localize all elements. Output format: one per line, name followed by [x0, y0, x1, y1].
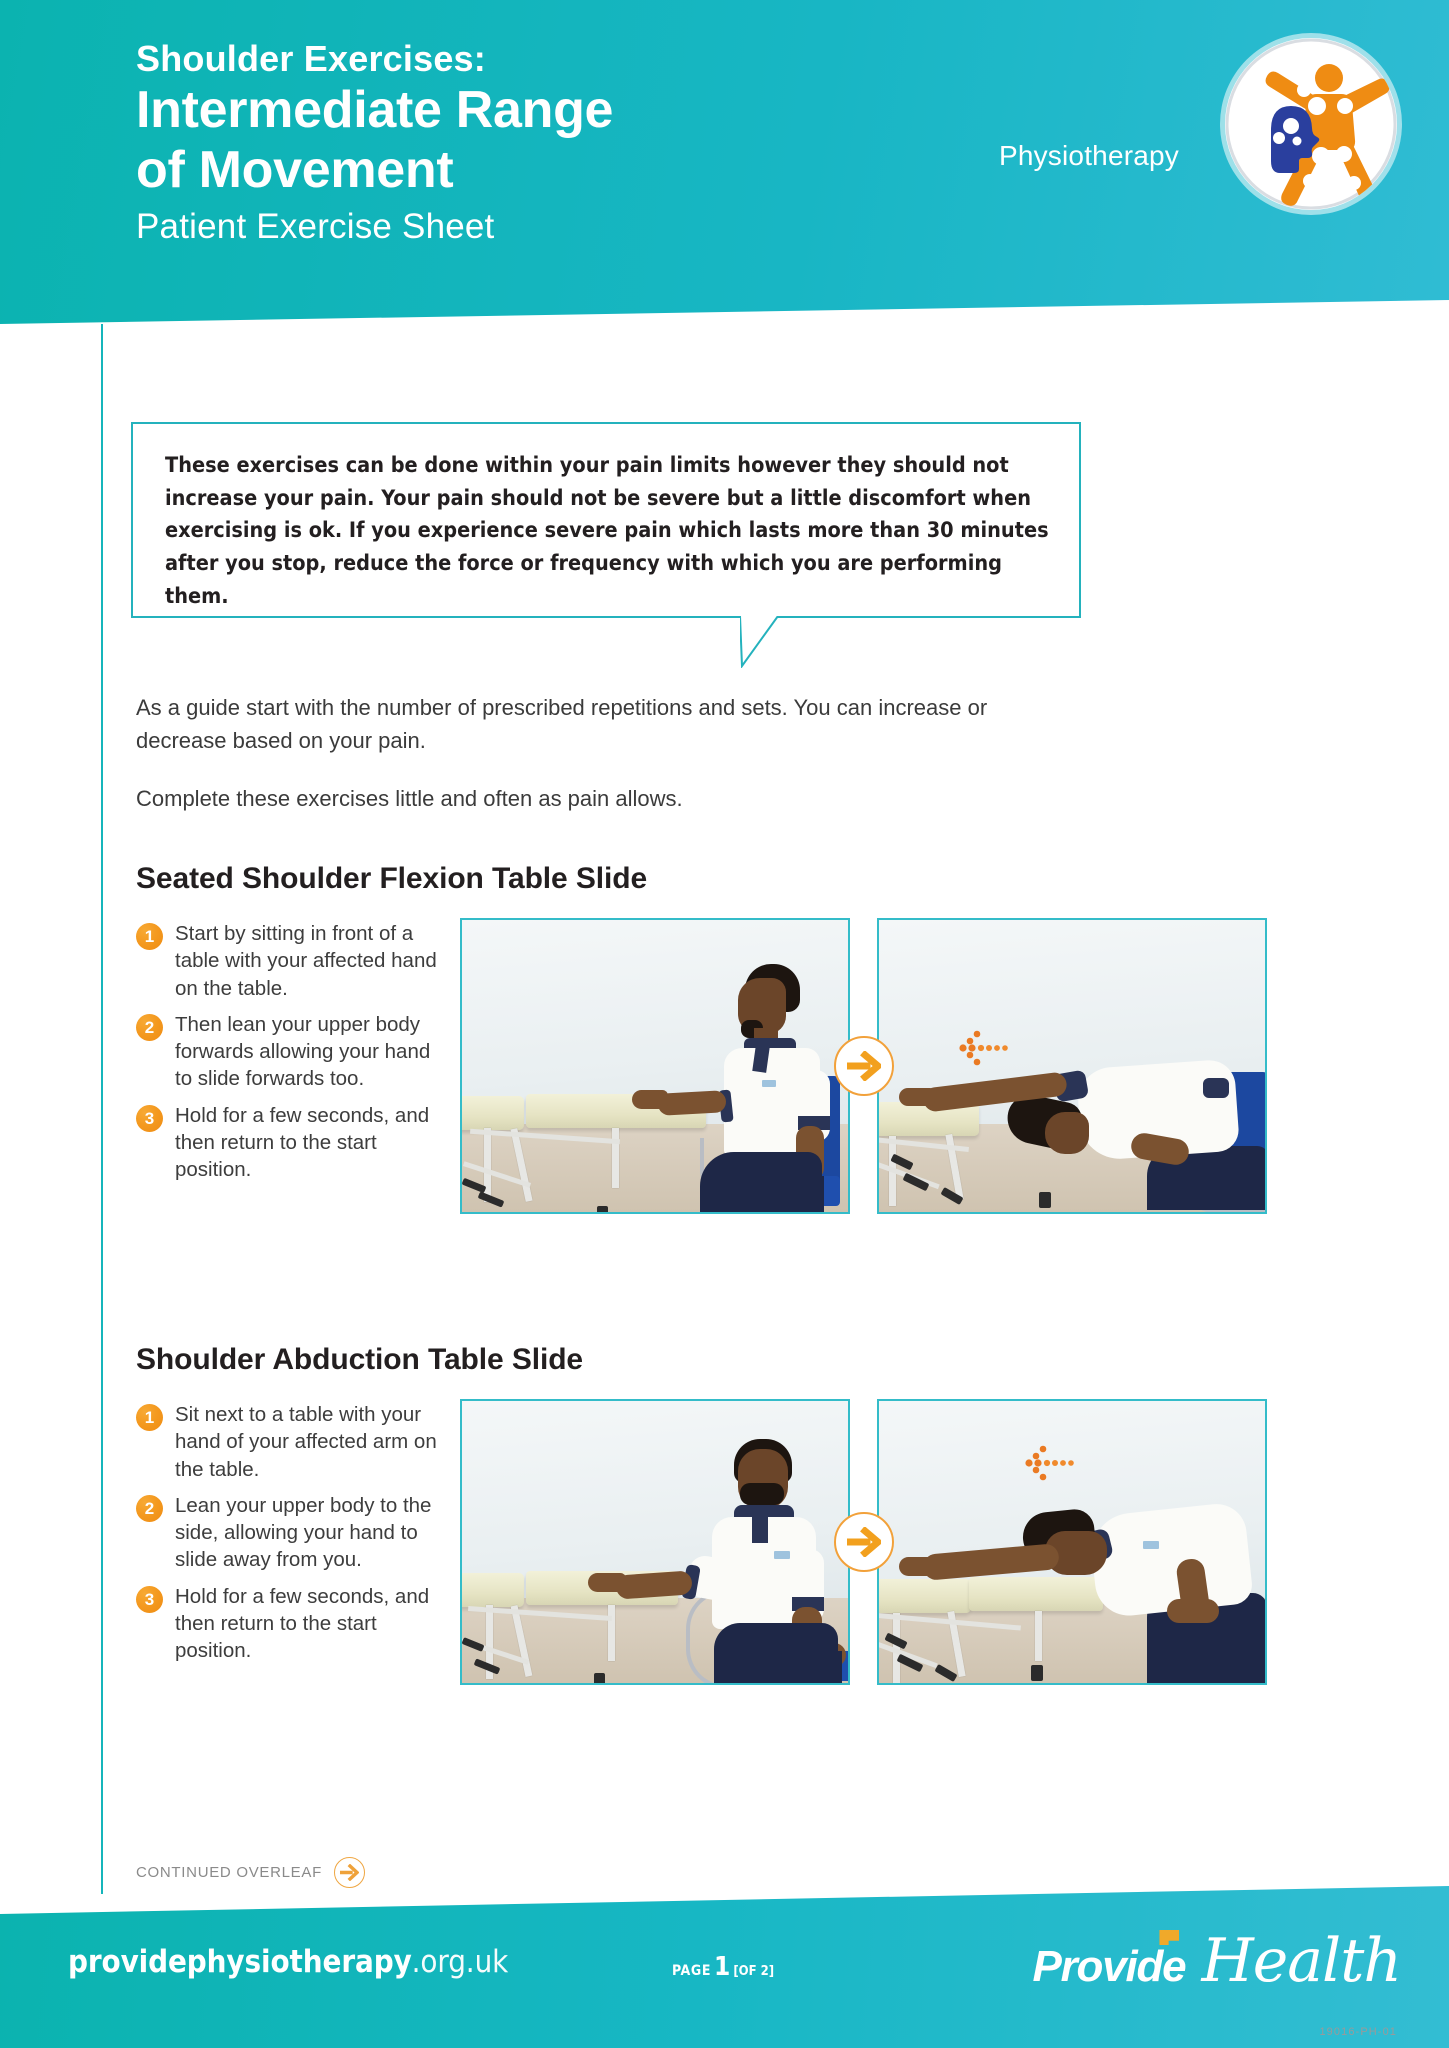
pain-guidance-callout: These exercises can be done within your … [131, 422, 1081, 618]
dotted-arrow-left-icon [955, 1030, 1011, 1072]
arrow-right-circle-icon [834, 1036, 894, 1096]
exercise-2-body: 1 Sit next to a table with your hand of … [136, 1399, 1316, 1685]
step-number-badge: 2 [136, 1014, 163, 1041]
body-gears-head-logo-icon [1225, 38, 1397, 210]
exercise-sheet-page: Shoulder Exercises: Intermediate Range o… [0, 0, 1449, 2048]
provide-health-logo: Provide Health [1032, 1926, 1401, 1996]
step-item: 2 Then lean your upper body forwards all… [136, 1011, 446, 1093]
brand-provide-text: Provide [1032, 1942, 1185, 1991]
exercise-section-2: Shoulder Abduction Table Slide 1 Sit nex… [136, 1343, 1316, 1685]
step-number-badge: 1 [136, 1404, 163, 1431]
footer-url-bold: providephysiotherapy [68, 1944, 412, 1980]
page-header: Shoulder Exercises: Intermediate Range o… [0, 0, 1449, 400]
photo-seated-end-position [877, 918, 1267, 1214]
header-subtitle: Patient Exercise Sheet [136, 206, 896, 248]
step-number-badge: 2 [136, 1495, 163, 1522]
brand-provide-wordmark: Provide [1032, 1942, 1185, 1992]
arrow-right-circle-icon [834, 1512, 894, 1572]
step-number-badge: 3 [136, 1105, 163, 1132]
exercise-1-body: 1 Start by sitting in front of a table w… [136, 918, 1316, 1214]
step-item: 1 Sit next to a table with your hand of … [136, 1401, 446, 1483]
page-footer: providephysiotherapy.org.uk PAGE1[OF 2] … [0, 1878, 1449, 2048]
step-text: Sit next to a table with your hand of yo… [175, 1401, 443, 1483]
exercise-1-photos [460, 918, 1267, 1214]
step-text: Hold for a few seconds, and then return … [175, 1102, 443, 1184]
page-of-total: [OF 2] [733, 1964, 774, 1979]
page-indicator: PAGE1[OF 2] [672, 1952, 774, 1982]
footer-website-url[interactable]: providephysiotherapy.org.uk [68, 1944, 508, 1980]
page-number: 1 [714, 1952, 730, 1982]
callout-text: These exercises can be done within your … [133, 424, 1079, 613]
service-name-label: Physiotherapy [999, 140, 1179, 172]
header-title-line-2: of Movement [136, 143, 896, 198]
exercise-section-1: Seated Shoulder Flexion Table Slide 1 St… [136, 862, 1316, 1214]
exercise-1-steps: 1 Start by sitting in front of a table w… [136, 918, 446, 1183]
brand-health-script: Health [1201, 1926, 1401, 1996]
exercise-2-title: Shoulder Abduction Table Slide [136, 1343, 1316, 1377]
guidance-paragraphs: As a guide start with the number of pres… [136, 692, 996, 816]
step-item: 2 Lean your upper body to the side, allo… [136, 1492, 446, 1574]
step-text: Lean your upper body to the side, allowi… [175, 1492, 443, 1574]
left-accent-rule [101, 324, 103, 1894]
step-text: Then lean your upper body forwards allow… [175, 1011, 443, 1093]
photo-abduction-start-position [460, 1399, 850, 1685]
header-kicker: Shoulder Exercises: [136, 38, 896, 79]
continued-overleaf-label: CONTINUED OVERLEAF [136, 1864, 322, 1881]
step-item: 3 Hold for a few seconds, and then retur… [136, 1102, 446, 1184]
step-text: Hold for a few seconds, and then return … [175, 1583, 443, 1665]
exercise-2-steps: 1 Sit next to a table with your hand of … [136, 1399, 446, 1664]
step-text: Start by sitting in front of a table wit… [175, 920, 443, 1002]
exercise-2-photos [460, 1399, 1267, 1685]
callout-tail-icon [740, 616, 780, 668]
guidance-paragraph-2: Complete these exercises little and ofte… [136, 783, 996, 816]
header-title-group: Shoulder Exercises: Intermediate Range o… [136, 38, 896, 248]
step-number-badge: 1 [136, 923, 163, 950]
exercise-1-title: Seated Shoulder Flexion Table Slide [136, 862, 1316, 896]
document-reference-code: 19016-PH-01 [1319, 2026, 1397, 2038]
photo-seated-start-position [460, 918, 850, 1214]
step-item: 1 Start by sitting in front of a table w… [136, 920, 446, 1002]
guidance-paragraph-1: As a guide start with the number of pres… [136, 692, 996, 757]
arrow-right-circle-icon [334, 1857, 365, 1888]
dotted-arrow-left-icon [1021, 1445, 1077, 1487]
page-word: PAGE [672, 1963, 711, 1979]
continued-overleaf: CONTINUED OVERLEAF [136, 1857, 365, 1888]
photo-abduction-end-position [877, 1399, 1267, 1685]
step-number-badge: 3 [136, 1586, 163, 1613]
header-title-line-1: Intermediate Range [136, 83, 896, 138]
footer-url-light: .org.uk [412, 1944, 509, 1980]
step-item: 3 Hold for a few seconds, and then retur… [136, 1583, 446, 1665]
